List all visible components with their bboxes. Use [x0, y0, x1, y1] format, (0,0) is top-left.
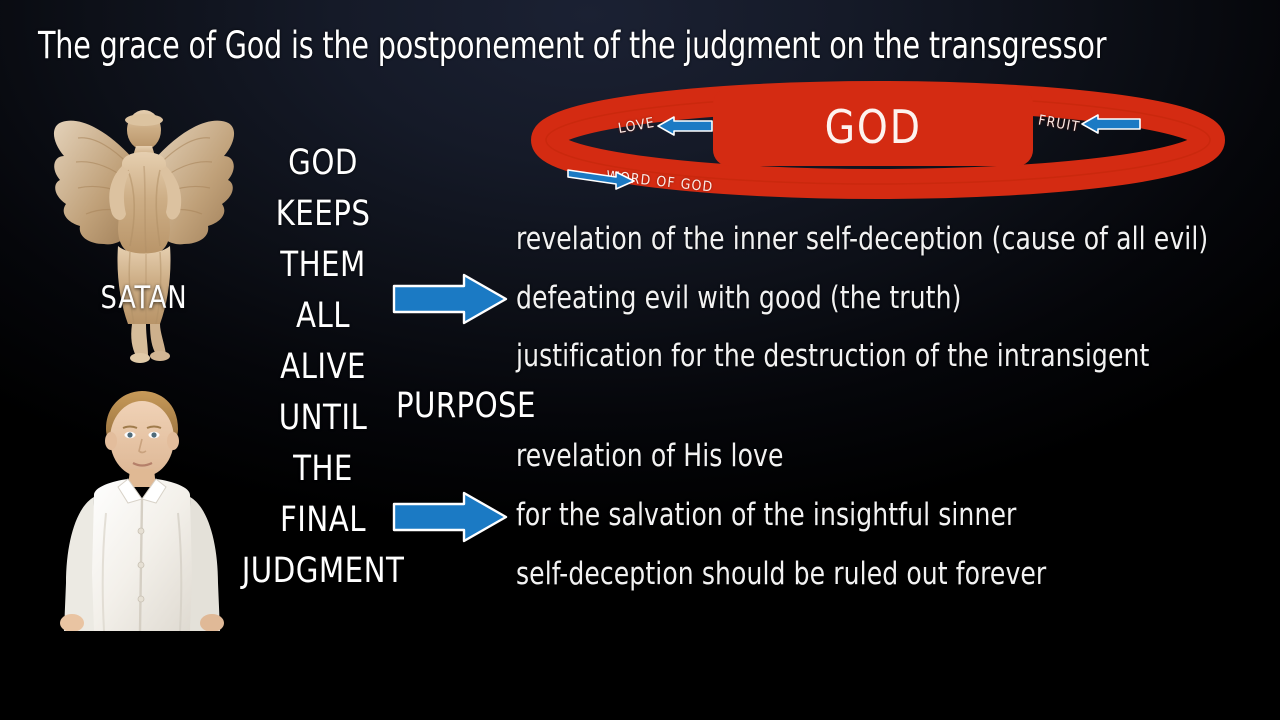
purpose-statement: revelation of His love	[516, 437, 784, 475]
stack-word: ALL	[238, 291, 407, 342]
fruit-arrow	[1080, 114, 1142, 134]
love-arrow	[656, 116, 714, 136]
right-arrow-icon	[392, 272, 508, 326]
word-of-god-arrow	[566, 166, 636, 190]
right-block-arrow-top	[392, 272, 508, 326]
right-block-arrow-bottom	[392, 490, 508, 544]
stack-word: UNTIL	[238, 393, 407, 444]
right-arrow-icon	[566, 166, 636, 190]
god-label: GOD	[824, 100, 921, 154]
god-cycle-diagram: GOD LOVE FRUIT WORD OF GOD	[528, 78, 1228, 208]
right-arrow-icon	[392, 490, 508, 544]
slide-canvas: The grace of God is the postponement of …	[0, 0, 1280, 720]
stack-word: THE	[238, 444, 407, 495]
stack-word: ALIVE	[238, 342, 407, 393]
purpose-statement: revelation of the inner self-deception (…	[516, 220, 1208, 258]
stack-word: KEEPS	[238, 189, 407, 240]
purpose-statement: self-deception should be ruled out forev…	[516, 555, 1046, 593]
stack-word: FINAL	[238, 495, 407, 546]
adam-figure: ADAM	[36, 383, 248, 631]
purpose-statement: justification for the destruction of the…	[516, 337, 1149, 375]
man-portrait-icon	[36, 383, 248, 631]
purpose-statement: for the salvation of the insightful sinn…	[516, 496, 1016, 534]
stack-word: JUDGMENT	[238, 546, 407, 597]
stack-word: THEM	[238, 240, 407, 291]
stack-word: GOD	[238, 138, 407, 189]
god-keeps-them-alive-stack: GOD KEEPS THEM ALL ALIVE UNTIL THE FINAL…	[232, 138, 414, 597]
left-arrow-icon	[1080, 114, 1142, 134]
page-title: The grace of God is the postponement of …	[38, 22, 1087, 70]
god-center-box: GOD	[713, 88, 1033, 166]
winged-angel-statue-icon	[36, 96, 252, 364]
left-arrow-icon	[656, 116, 714, 136]
purpose-statement: defeating evil with good (the truth)	[516, 279, 961, 317]
purpose-label: PURPOSE	[396, 385, 536, 427]
satan-figure: SATAN	[36, 96, 252, 364]
